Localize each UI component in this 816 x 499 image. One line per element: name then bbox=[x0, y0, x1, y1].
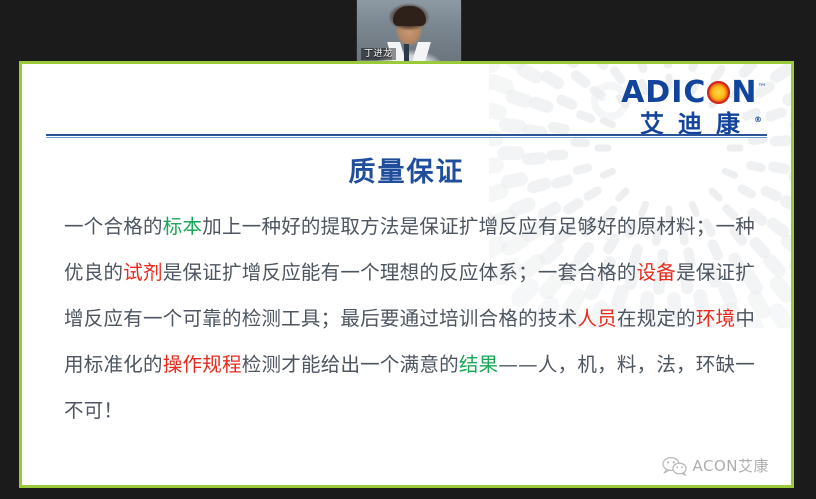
registered-symbol: ® bbox=[754, 115, 762, 124]
body-run-12: 检测才能给出一个满意的 bbox=[242, 353, 459, 376]
adicon-logo: ADICN™ 艾迪康® bbox=[621, 78, 767, 136]
divider-line-thin bbox=[46, 137, 767, 138]
watermark-label: ACON艾康 bbox=[693, 455, 770, 476]
adicon-chinese-name: 艾迪康® bbox=[621, 112, 767, 136]
adicon-wordmark: ADICN™ bbox=[621, 78, 767, 108]
sunburst-icon bbox=[707, 81, 730, 104]
body-run-4: 是保证扩增反应能有一个理想的反应体系；一套合格的 bbox=[163, 261, 637, 284]
trademark-symbol: ™ bbox=[758, 83, 768, 93]
body-run-3: 试剂 bbox=[123, 261, 163, 284]
adicon-wordmark-post: N bbox=[731, 75, 757, 110]
slide-body-text: 一个合格的标本加上一种好的提取方法是保证扩增反应有足够好的原材料；一种优良的试剂… bbox=[64, 204, 755, 434]
adicon-wordmark-pre: ADIC bbox=[621, 75, 706, 110]
presenter-name-label: 丁进龙 bbox=[361, 48, 396, 60]
body-run-8: 在规定的 bbox=[617, 307, 696, 330]
wechat-icon bbox=[662, 456, 688, 476]
presenter-video-tile[interactable]: 丁进龙 bbox=[356, 0, 462, 62]
presenter-lanyard bbox=[404, 44, 409, 62]
slide-frame: ADICN™ 艾迪康® 质量保证 一个合格的标本加上一种好的提取方法是保证扩增反… bbox=[19, 61, 794, 488]
body-run-9: 环境 bbox=[696, 307, 736, 330]
video-conference-stage: 丁进龙 ADICN™ 艾迪康® bbox=[0, 0, 816, 499]
presenter-hair bbox=[393, 6, 426, 26]
body-run-0: 一个合格的 bbox=[64, 215, 163, 238]
slide-title: 质量保证 bbox=[22, 150, 791, 189]
body-run-1: 标本 bbox=[163, 215, 203, 238]
presentation-slide: ADICN™ 艾迪康® 质量保证 一个合格的标本加上一种好的提取方法是保证扩增反… bbox=[22, 64, 791, 485]
presenter-collar-right bbox=[412, 42, 431, 62]
body-run-11: 操作规程 bbox=[163, 353, 242, 376]
body-run-5: 设备 bbox=[637, 261, 677, 284]
body-run-7: 人员 bbox=[577, 307, 617, 330]
wechat-watermark: ACON艾康 bbox=[662, 455, 770, 476]
body-run-13: 结果 bbox=[459, 353, 499, 376]
header-divider bbox=[46, 134, 767, 138]
